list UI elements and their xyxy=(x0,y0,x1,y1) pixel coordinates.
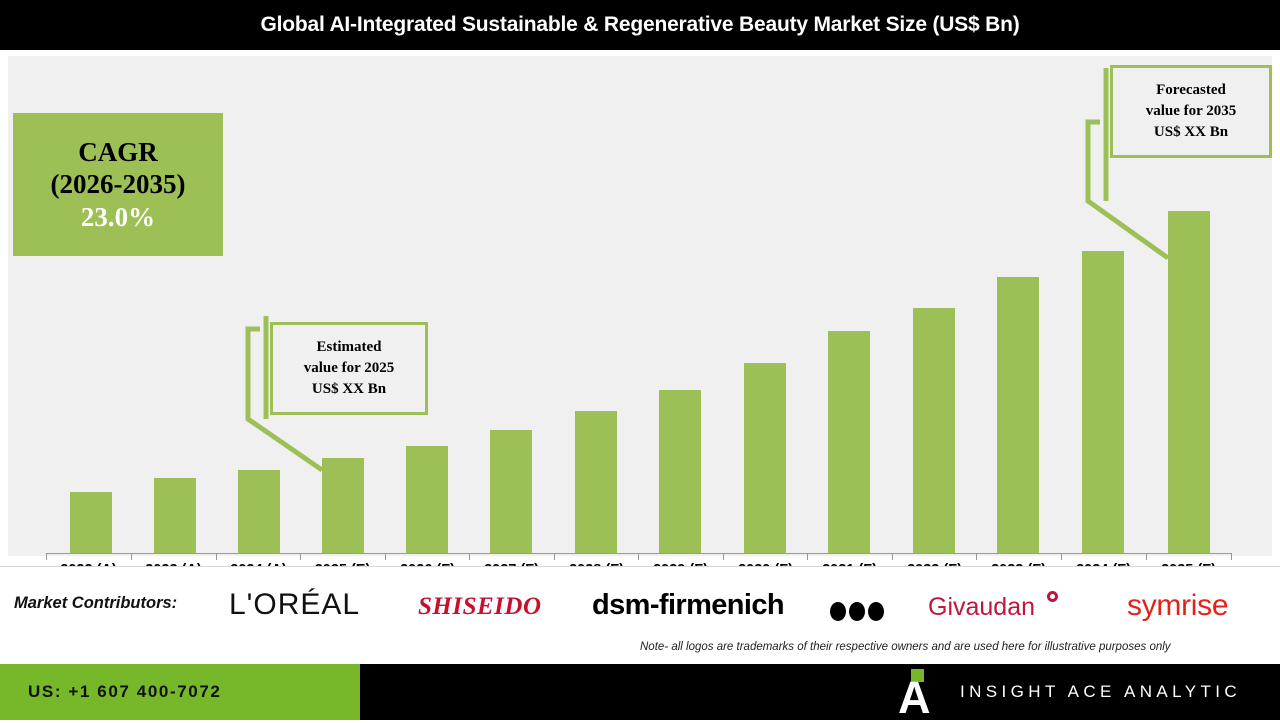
forecasted-callout-leader xyxy=(0,50,1280,562)
givaudan-logo: Givaudan xyxy=(928,593,1035,622)
market-contributors-label: Market Contributors: xyxy=(14,594,177,613)
loreal-logo: L'ORÉAL xyxy=(229,588,360,622)
symrise-logo: symrise xyxy=(1127,589,1228,623)
brand-name: INSIGHT ACE ANALYTIC xyxy=(960,682,1241,702)
forecasted-line-3: US$ XX Bn xyxy=(1154,122,1228,143)
forecasted-line-2: value for 2035 xyxy=(1146,101,1237,122)
market-contributors-strip: Market Contributors: L'ORÉAL SHISEIDO ds… xyxy=(0,566,1280,665)
trademark-note: Note- all logos are trademarks of their … xyxy=(640,640,1280,655)
phone-bar: US: +1 607 400-7072 xyxy=(0,664,360,720)
brand-lockup: A INSIGHT ACE ANALYTIC xyxy=(898,664,1241,720)
forecasted-value-callout: Forecasted value for 2035 US$ XX Bn xyxy=(1110,65,1272,158)
chart-panel: CAGR (2026-2035) 23.0% 2022 (A) 2023 (A)… xyxy=(0,50,1280,562)
page-title: Global AI-Integrated Sustainable & Regen… xyxy=(260,13,1019,37)
footer-phone-number[interactable]: US: +1 607 400-7072 xyxy=(28,682,221,702)
forecasted-line-1: Forecasted xyxy=(1156,80,1226,101)
dsm-dots-icon xyxy=(830,602,884,621)
insight-ace-a-logo-icon: A xyxy=(898,669,942,715)
footer-bar: US: +1 607 400-7072 A INSIGHT ACE ANALYT… xyxy=(0,664,1280,720)
dsm-firmenich-logo: dsm-firmenich xyxy=(592,589,784,622)
givaudan-circle-icon xyxy=(1047,591,1058,602)
header-bar: Global AI-Integrated Sustainable & Regen… xyxy=(0,0,1280,50)
shiseido-logo: SHISEIDO xyxy=(418,593,542,621)
logo-a-glyph: A xyxy=(898,680,942,715)
